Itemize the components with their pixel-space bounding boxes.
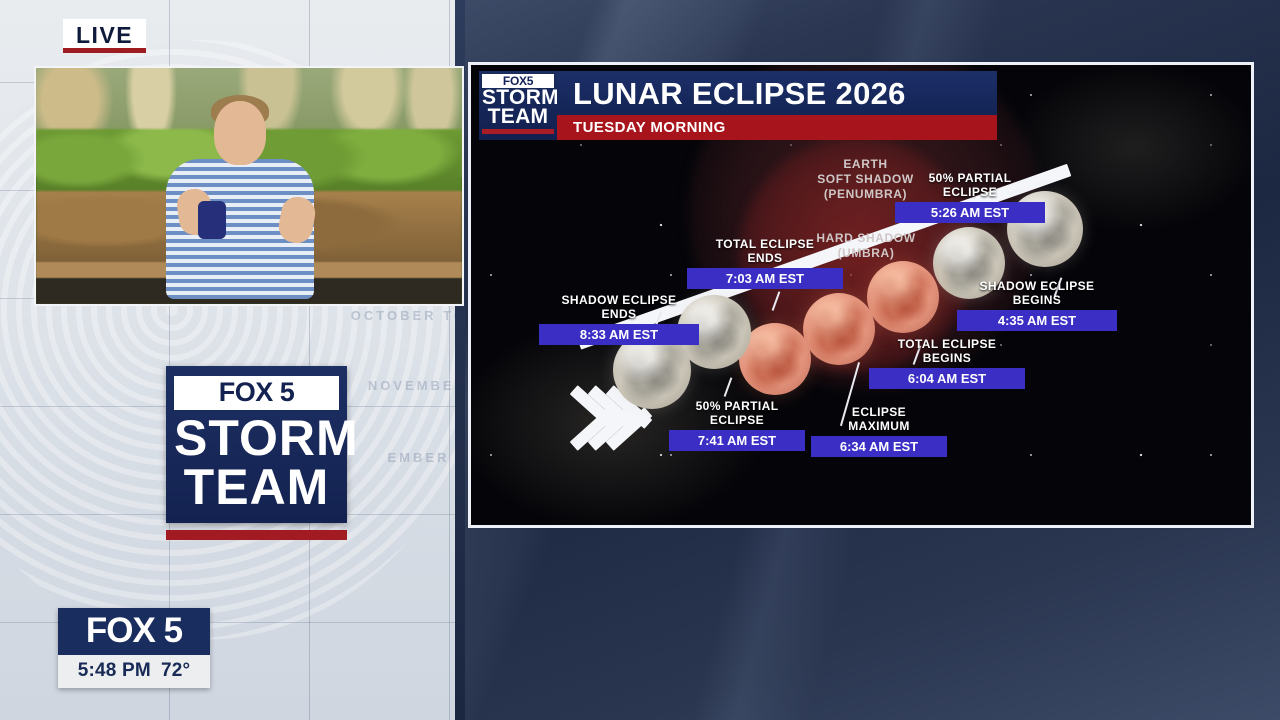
callout-shadow-eclipse-ends: SHADOW ECLIPSE ENDS 8:33 AM EST [539,293,699,345]
graphic-title-bar: LUNAR ECLIPSE 2026 [557,71,997,115]
callout-label-line2: ECLIPSE [669,413,805,427]
callout-label-line1: ECLIPSE [811,405,947,419]
graphic-subtitle: TUESDAY MORNING [573,119,981,136]
callout-shadow-eclipse-begins: SHADOW ECLIPSE BEGINS 4:35 AM EST [957,279,1117,331]
callout-partial-eclipse-begin: 50% PARTIAL ECLIPSE 5:26 AM EST [895,171,1045,223]
callout-total-eclipse-begins: TOTAL ECLIPSE BEGINS 6:04 AM EST [869,337,1025,389]
callout-label-line2: MAXIMUM [811,419,947,433]
storm-team-network: FOX 5 [174,376,339,410]
lunar-eclipse-graphic: FOX5 STORM TEAM LUNAR ECLIPSE 2026 TUESD… [468,62,1254,528]
station-bug-network: FOX 5 [58,612,210,650]
callout-time: 6:04 AM EST [869,368,1025,389]
storm-team-red-bar [166,530,347,540]
graphic-subtitle-bar: TUESDAY MORNING [557,115,997,140]
ghost-text-5: EMBER T [388,450,462,465]
callout-label-line1: SHADOW ECLIPSE [539,293,699,307]
held-device [198,201,226,239]
callout-total-eclipse-ends: TOTAL ECLIPSE ENDS 7:03 AM EST [687,237,843,289]
penumbra-label-line1: EARTH [773,157,958,172]
callout-label-line1: 50% PARTIAL [669,399,805,413]
callout-time: 7:41 AM EST [669,430,805,451]
moon-eclipse-maximum [803,293,875,365]
callout-label-line1: 50% PARTIAL [895,171,1045,185]
callout-time: 6:34 AM EST [811,436,947,457]
callout-eclipse-maximum: ECLIPSE MAXIMUM 6:34 AM EST [811,405,947,457]
graphic-title-block: LUNAR ECLIPSE 2026 TUESDAY MORNING [557,71,997,140]
callout-time: 4:35 AM EST [957,310,1117,331]
callout-time: 5:26 AM EST [895,202,1045,223]
live-badge: LIVE [63,19,146,53]
meteorologist-head [214,101,266,165]
callout-label-line2: BEGINS [869,351,1025,365]
live-badge-label: LIVE [76,22,133,48]
callout-label-line2: BEGINS [957,293,1117,307]
storm-team-line1: STORM [174,414,339,462]
graphic-logo-red-bar [482,129,554,134]
graphic-title: LUNAR ECLIPSE 2026 [573,76,981,111]
station-bug-info: 5:48 PM72° [58,655,210,688]
callout-time: 8:33 AM EST [539,324,699,345]
graphic-storm-team-logo: FOX5 STORM TEAM [479,71,557,140]
graphic-header: FOX5 STORM TEAM LUNAR ECLIPSE 2026 TUESD… [479,71,997,140]
ghost-text-3: OCTOBER TO [351,308,461,323]
callout-partial-eclipse-end: 50% PARTIAL ECLIPSE 7:41 AM EST [669,399,805,451]
moon-total-eclipse-begins [867,261,939,333]
broadcast-screen: ULY TOTALS UGUST MBER T OCTOBER TO NOVEM… [0,0,1280,720]
current-temperature: 72° [161,660,190,681]
graphic-logo-line2: TEAM [482,107,554,126]
callout-label-line1: TOTAL ECLIPSE [869,337,1025,351]
storm-team-logo-box: FOX 5 STORM TEAM [166,366,347,523]
storm-team-logo: FOX 5 STORM TEAM [166,366,347,540]
callout-label-line2: ENDS [687,251,843,265]
station-bug-logo: FOX 5 [58,608,210,655]
live-video-feed[interactable] [34,66,464,306]
station-bug: FOX 5 5:48 PM72° [58,608,210,688]
callout-time: 7:03 AM EST [687,268,843,289]
callout-label-line2: ENDS [539,307,699,321]
callout-label-line2: ECLIPSE [895,185,1045,199]
current-time: 5:48 PM [78,660,151,681]
storm-team-line2: TEAM [174,463,339,511]
callout-label-line1: TOTAL ECLIPSE [687,237,843,251]
callout-label-line1: SHADOW ECLIPSE [957,279,1117,293]
ghost-text-4: NOVEMBER [368,378,461,393]
